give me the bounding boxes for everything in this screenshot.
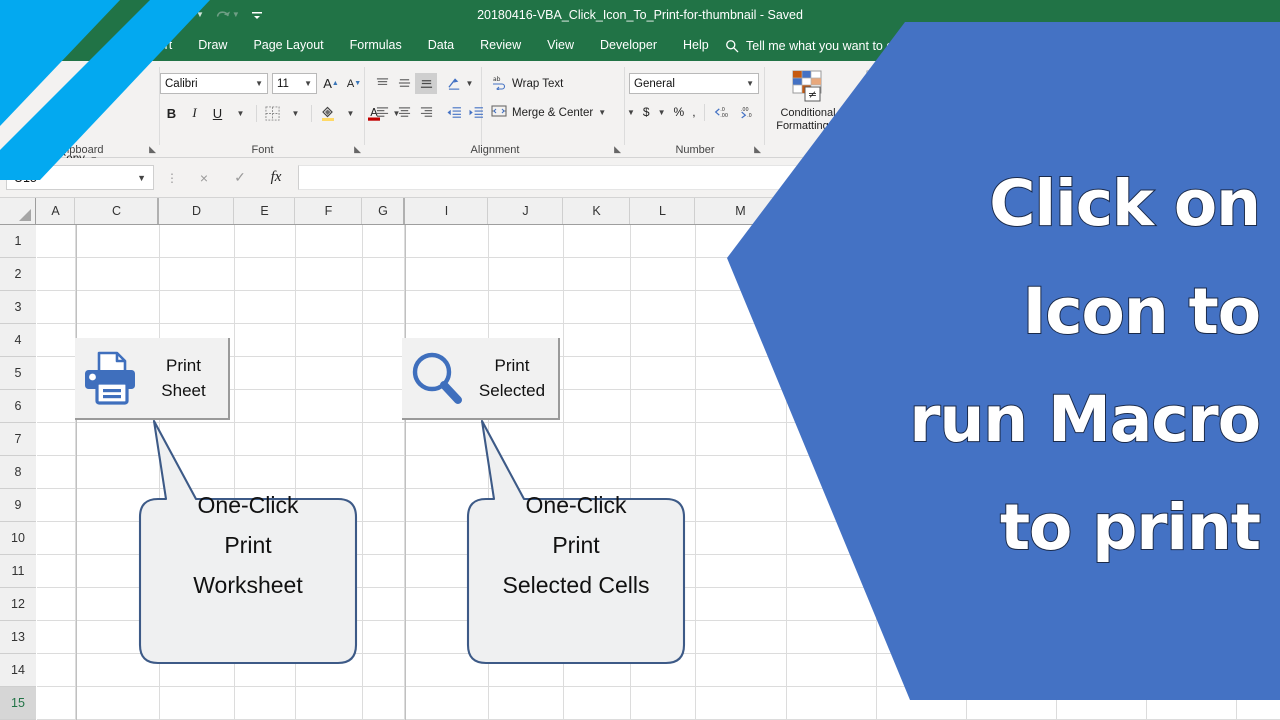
format-as-table-icon: [847, 69, 917, 103]
chevron-down-icon[interactable]: ▼: [304, 79, 312, 88]
fill-color-icon[interactable]: [316, 102, 339, 125]
column-header-D[interactable]: D: [160, 198, 234, 224]
customize-qat-icon[interactable]: [248, 7, 266, 23]
font-size-combobox[interactable]: 11 ▼: [272, 73, 317, 94]
number-format-row: ▼ $ ▼ % , .0 .00 .00 .0: [625, 101, 761, 123]
font-name-value: Calibri: [165, 78, 198, 90]
clipboard-dialog-launcher-icon[interactable]: ◣: [149, 144, 156, 155]
tab-help[interactable]: Help: [670, 30, 722, 61]
gridline: [786, 225, 787, 720]
gridline: [37, 686, 1280, 687]
orientation-icon[interactable]: ▼: [445, 73, 475, 94]
fill-caret-icon[interactable]: ▼: [339, 102, 362, 125]
row-header-10[interactable]: 10: [0, 522, 36, 555]
name-box-value: U15: [14, 171, 37, 185]
align-right-icon[interactable]: [415, 102, 437, 123]
cancel-formula-icon[interactable]: ×: [186, 165, 222, 190]
orientation-caret-icon[interactable]: ▼: [466, 79, 474, 88]
magnifier-icon: [402, 350, 472, 406]
number-group-label: Number: [625, 144, 765, 156]
tab-page-layout[interactable]: Page Layout: [240, 30, 336, 61]
print-sheet-line2: Sheet: [145, 378, 222, 403]
svg-text:.00: .00: [720, 113, 728, 119]
row-header-5[interactable]: 5: [0, 357, 36, 390]
undo-icon[interactable]: ▼: [176, 6, 207, 24]
down-arrow-icon: ▼: [354, 80, 361, 87]
print-selected-line1: Print: [472, 353, 552, 378]
divider: [704, 104, 705, 121]
select-all-button[interactable]: [0, 198, 36, 224]
column-header-L[interactable]: L: [631, 198, 695, 224]
formula-bar-handle[interactable]: ⋮: [166, 171, 178, 185]
accounting-caret-icon[interactable]: ▼: [654, 101, 670, 123]
gridline: [76, 225, 77, 720]
italic-button[interactable]: I: [183, 102, 206, 125]
print-selected-line2: Selected: [472, 378, 552, 403]
accounting-format-button[interactable]: $: [639, 101, 654, 123]
decrease-font-label: A: [347, 78, 354, 90]
conditional-formatting-label: ConditionalFormatting ▼: [773, 107, 843, 133]
increase-font-size-button[interactable]: A▲: [320, 73, 342, 94]
ribbon-group-number: General ▼ ▼ $ ▼ % , .0 .00 .00 .0: [625, 61, 765, 158]
tab-review[interactable]: Review: [467, 30, 534, 61]
tab-data[interactable]: Data: [415, 30, 467, 61]
row-headers: 1 2 3 4 5 6 7 8 9 10 11 12 13 14 15 16 1…: [0, 225, 36, 720]
enter-formula-icon[interactable]: ✓: [222, 165, 258, 190]
name-box[interactable]: U15 ▼: [6, 165, 154, 190]
print-sheet-line1: Print: [145, 353, 222, 378]
borders-icon[interactable]: [261, 102, 284, 125]
printer-icon: [75, 351, 145, 405]
svg-text:.0: .0: [747, 113, 752, 119]
wrap-text-label: Wrap Text: [512, 78, 563, 90]
ribbon-tabs: Insert Draw Page Layout Formulas Data Re…: [128, 30, 722, 61]
format-as-table-button[interactable]: Format asTable ▼: [847, 69, 917, 133]
row-header-13[interactable]: 13: [0, 621, 36, 654]
callout-line-3: Selected Cells: [456, 565, 696, 605]
gridline: [405, 225, 406, 720]
ribbon-group-font: Calibri ▼ 11 ▼ A▲ A▼ B I U ▼ ▼: [160, 61, 365, 158]
overlay-line-3: run Macro: [790, 366, 1260, 474]
print-sheet-label: Print Sheet: [145, 353, 228, 403]
divider: [256, 105, 257, 122]
ribbon-body: Copy ▼ Format Painter Clipboard ◣ Calibr…: [0, 61, 1280, 158]
column-header-A[interactable]: A: [37, 198, 75, 224]
column-header-M[interactable]: M: [696, 198, 786, 224]
merge-caret-icon[interactable]: ▼: [598, 108, 606, 117]
number-format-combobox[interactable]: General ▼: [629, 73, 759, 94]
print-selected-button[interactable]: Print Selected: [402, 338, 560, 420]
underline-button[interactable]: U: [206, 102, 229, 125]
bold-button[interactable]: B: [160, 102, 183, 125]
redo-caret-icon[interactable]: ▼: [232, 11, 240, 19]
conditional-formatting-button[interactable]: ≠ ConditionalFormatting ▼: [773, 69, 843, 133]
percent-style-button[interactable]: %: [670, 101, 689, 123]
title-bar: 20180416-VBA_Click_Icon_To_Print-for-thu…: [0, 0, 1280, 30]
row-header-1[interactable]: 1: [0, 225, 36, 258]
row-header-7[interactable]: 7: [0, 423, 36, 456]
callout-line-2: Print: [128, 525, 368, 565]
align-top-icon[interactable]: [371, 73, 393, 94]
save-icon[interactable]: [150, 6, 171, 25]
callout-line-1: One-Click: [128, 485, 368, 525]
wrap-text-button[interactable]: ab Wrap Text: [491, 75, 563, 93]
callout-text: One-Click Print Worksheet: [128, 485, 368, 605]
underline-caret-icon[interactable]: ▼: [229, 102, 252, 125]
row-header-14[interactable]: 14: [0, 654, 36, 687]
wrap-text-icon: ab: [491, 75, 507, 93]
chevron-down-icon[interactable]: ▼: [746, 79, 754, 88]
column-header-E[interactable]: E: [235, 198, 295, 224]
row-header-11[interactable]: 11: [0, 555, 36, 588]
row-header-12[interactable]: 12: [0, 588, 36, 621]
ribbon-group-clipboard: Copy ▼ Format Painter Clipboard ◣: [0, 61, 160, 158]
tab-view[interactable]: View: [534, 30, 587, 61]
font-dialog-launcher-icon[interactable]: ◣: [354, 144, 361, 155]
comma-style-button[interactable]: ,: [688, 101, 699, 123]
increase-font-label: A: [323, 76, 332, 91]
select-all-triangle-icon: [19, 209, 31, 221]
increase-indent-icon[interactable]: [465, 102, 487, 123]
svg-text:≠: ≠: [808, 88, 817, 101]
column-header-J[interactable]: J: [489, 198, 563, 224]
row-header-6[interactable]: 6: [0, 390, 36, 423]
decrease-font-size-button[interactable]: A▼: [343, 73, 365, 94]
percent-style-caret-icon[interactable]: ▼: [625, 101, 639, 123]
svg-text:ab: ab: [493, 76, 501, 83]
alignment-dialog-launcher-icon[interactable]: ◣: [614, 144, 621, 155]
overlay-line-4: to print: [790, 474, 1260, 582]
row-header-3[interactable]: 3: [0, 291, 36, 324]
tell-me-label: Tell me what you want to do: [746, 39, 900, 53]
quick-access-toolbar: ▼ ▼: [150, 0, 266, 30]
tab-insert[interactable]: Insert: [128, 30, 185, 61]
callout-line-2: Print: [456, 525, 696, 565]
clipboard-group-label: Clipboard: [0, 144, 160, 156]
overlay-headline: Click on Icon to run Macro to print: [790, 150, 1280, 582]
column-header-I[interactable]: I: [406, 198, 488, 224]
print-sheet-button[interactable]: Print Sheet: [75, 338, 230, 420]
overlay-line-1: Click on: [790, 150, 1260, 258]
decrease-indent-icon[interactable]: [443, 102, 465, 123]
callout-text: One-Click Print Selected Cells: [456, 485, 696, 605]
insert-function-icon[interactable]: fx: [258, 165, 294, 190]
align-bottom-icon[interactable]: [415, 73, 437, 94]
align-left-icon[interactable]: [371, 102, 393, 123]
column-header-C[interactable]: C: [76, 198, 159, 224]
callout-print-worksheet[interactable]: One-Click Print Worksheet: [128, 455, 368, 670]
row-header-9[interactable]: 9: [0, 489, 36, 522]
print-selected-label: Print Selected: [472, 353, 558, 403]
callout-line-3: Worksheet: [128, 565, 368, 605]
row-header-4[interactable]: 4: [0, 324, 36, 357]
undo-caret-icon[interactable]: ▼: [196, 11, 204, 19]
font-group-label: Font: [160, 144, 365, 156]
ribbon-tab-bar: Insert Draw Page Layout Formulas Data Re…: [0, 30, 1280, 61]
merge-cells-icon: [491, 104, 507, 121]
tab-formulas[interactable]: Formulas: [337, 30, 415, 61]
ribbon-group-styles: ≠ ConditionalFormatting ▼ Format asTable…: [765, 61, 965, 158]
callout-line-1: One-Click: [456, 485, 696, 525]
tab-draw[interactable]: Draw: [185, 30, 240, 61]
row-header-8[interactable]: 8: [0, 456, 36, 489]
chevron-down-icon[interactable]: ▼: [137, 173, 146, 183]
row-header-2[interactable]: 2: [0, 258, 36, 291]
column-header-F[interactable]: F: [296, 198, 362, 224]
column-header-K[interactable]: K: [564, 198, 630, 224]
merge-center-button[interactable]: Merge & Center ▼: [491, 104, 606, 121]
search-icon: [725, 39, 739, 53]
tell-me-search[interactable]: Tell me what you want to do: [725, 30, 900, 61]
up-arrow-icon: ▲: [332, 80, 339, 87]
font-name-combobox[interactable]: Calibri ▼: [160, 73, 268, 94]
overlay-line-2: Icon to: [790, 258, 1260, 366]
alignment-group-label: Alignment: [365, 144, 625, 156]
divider: [311, 105, 312, 122]
decrease-decimal-icon[interactable]: .00 .0: [735, 101, 761, 123]
formula-bar-buttons: × ✓ fx: [186, 165, 294, 190]
callout-print-selected-cells[interactable]: One-Click Print Selected Cells: [456, 455, 696, 670]
number-format-value: General: [634, 78, 675, 90]
align-center-icon[interactable]: [393, 102, 415, 123]
ribbon-group-alignment: ▼ ab Wrap Text: [365, 61, 625, 158]
merge-center-label: Merge & Center: [512, 107, 593, 119]
conditional-formatting-icon: ≠: [773, 69, 843, 103]
font-size-value: 11: [277, 78, 289, 90]
tab-developer[interactable]: Developer: [587, 30, 670, 61]
format-as-table-label: Format asTable ▼: [847, 107, 917, 133]
row-header-15[interactable]: 15: [0, 687, 36, 720]
chevron-down-icon[interactable]: ▼: [255, 79, 263, 88]
borders-caret-icon[interactable]: ▼: [284, 102, 307, 125]
redo-icon[interactable]: ▼: [212, 6, 243, 24]
column-header-G[interactable]: G: [363, 198, 405, 224]
align-middle-icon[interactable]: [393, 73, 415, 94]
number-dialog-launcher-icon[interactable]: ◣: [754, 144, 761, 155]
increase-decimal-icon[interactable]: .0 .00: [709, 101, 735, 123]
